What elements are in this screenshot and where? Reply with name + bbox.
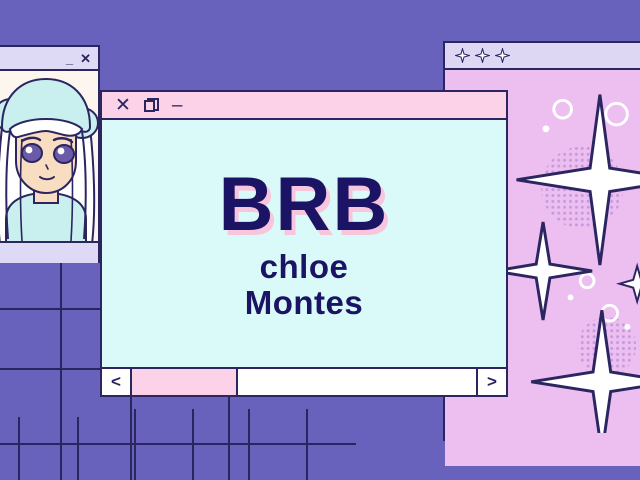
main-window-body: BRB chloe Montes — [102, 120, 506, 367]
headline-brb: BRB — [219, 167, 390, 243]
minimize-icon[interactable]: _ — [66, 52, 73, 65]
scroll-right-arrow-button[interactable]: > — [476, 369, 506, 395]
minimize-icon[interactable]: – — [172, 96, 183, 115]
sparkle-icon — [455, 48, 470, 63]
sparkle-icon — [620, 266, 640, 301]
scrollbar-track[interactable] — [132, 369, 476, 395]
scrollbar-thumb[interactable] — [132, 369, 238, 395]
horizontal-scrollbar[interactable]: < > — [102, 367, 506, 395]
avatar-illustration — [0, 71, 98, 241]
left-window-body — [0, 71, 98, 241]
subtitle-name: chloe Montes — [245, 249, 364, 320]
left-window-title-bar[interactable]: _ ✕ — [0, 47, 98, 71]
window-brb[interactable]: ✕ – BRB chloe Montes < > — [100, 90, 508, 397]
close-icon[interactable]: ✕ — [80, 52, 91, 65]
right-window-title-bar[interactable] — [445, 43, 640, 70]
left-window-footer — [0, 241, 98, 263]
maximize-icon[interactable] — [144, 98, 159, 113]
subtitle-line-2: Montes — [245, 285, 364, 321]
sparkle-small-icon — [494, 222, 592, 320]
sparkle-icon — [495, 48, 510, 63]
background-grid-bottom — [0, 395, 360, 480]
window-avatar[interactable]: _ ✕ — [0, 45, 100, 263]
screen-canvas: _ ✕ — [0, 0, 640, 480]
main-window-title-bar[interactable]: ✕ – — [102, 92, 506, 120]
close-icon[interactable]: ✕ — [115, 96, 131, 115]
scroll-left-arrow-button[interactable]: < — [102, 369, 132, 395]
sparkle-large-icon — [517, 95, 640, 266]
sparkle-icon — [475, 48, 490, 63]
scrollbar-track-empty[interactable] — [238, 369, 476, 395]
subtitle-line-1: chloe — [245, 249, 364, 285]
